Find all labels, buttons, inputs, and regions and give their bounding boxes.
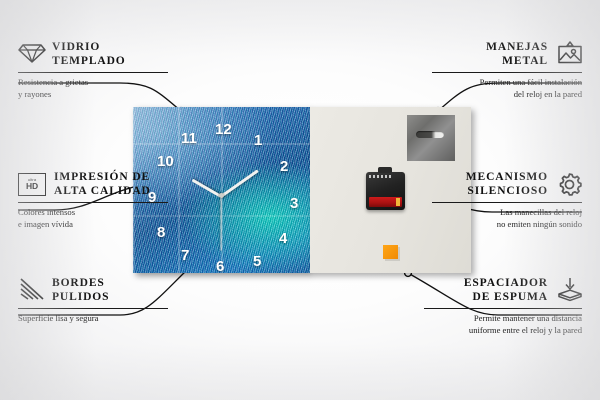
infographic-canvas: 12 1 2 3 4 5 6 7 8 9 10 11 <box>0 0 600 400</box>
callout-title: BORDES PULIDOS <box>52 276 109 304</box>
clock-numeral-4: 4 <box>279 231 287 246</box>
clock-numeral-11: 11 <box>181 131 197 146</box>
hanging-picture-icon <box>556 41 582 67</box>
callout-divider <box>432 202 582 203</box>
clock-numeral-12: 12 <box>215 122 232 137</box>
callout-description: Superficie lisa y segura <box>18 313 168 325</box>
mechanism-label <box>369 175 391 178</box>
foam-spacer <box>383 245 398 259</box>
ultra-hd-icon: ultra HD <box>18 173 46 195</box>
callout-title: ESPACIADOR DE ESPUMA <box>464 276 548 304</box>
callout-divider <box>18 72 168 73</box>
clock-numeral-6: 6 <box>216 259 224 273</box>
callout-title: MECANISMO SILENCIOSO <box>466 170 548 198</box>
clock-numeral-3: 3 <box>290 196 298 211</box>
callout-description: Permiten una fácil instalación del reloj… <box>432 77 582 101</box>
callout-description: Colores intensos e imagen vívida <box>18 207 168 231</box>
clock-center-cap <box>219 193 224 198</box>
stack-down-arrow-icon <box>556 277 582 303</box>
diagonal-lines-icon <box>18 277 44 303</box>
callout-divider <box>18 308 168 309</box>
callout-vidrio-templado[interactable]: VIDRIO TEMPLADO Resistencia a grietas y … <box>18 40 168 101</box>
callout-manejas-metal[interactable]: MANEJAS METAL Permiten una fácil instala… <box>432 40 582 101</box>
callout-espaciador-de-espuma[interactable]: ESPACIADOR DE ESPUMA Permite mantener un… <box>424 276 582 337</box>
clock-numeral-7: 7 <box>181 248 189 263</box>
clock-mechanism-box <box>366 172 405 210</box>
hanger-slot <box>416 131 444 138</box>
callout-divider <box>424 308 582 309</box>
callout-divider <box>432 72 582 73</box>
clock-numeral-1: 1 <box>254 133 262 148</box>
clock-numeral-5: 5 <box>253 254 261 269</box>
metal-hanger <box>407 115 455 161</box>
callout-bordes-pulidos[interactable]: BORDES PULIDOS Superficie lisa y segura <box>18 276 168 325</box>
callout-description: Las manecillas del reloj no emiten ningú… <box>432 207 582 231</box>
callout-title: IMPRESIÓN DE ALTA CALIDAD <box>54 170 151 198</box>
callout-title: MANEJAS METAL <box>486 40 548 68</box>
callout-divider <box>18 202 168 203</box>
battery <box>369 197 402 207</box>
callout-description: Resistencia a grietas y rayones <box>18 77 168 101</box>
callout-title: VIDRIO TEMPLADO <box>52 40 126 68</box>
clock-numeral-10: 10 <box>157 154 174 169</box>
gear-icon <box>556 171 582 197</box>
product-image: 12 1 2 3 4 5 6 7 8 9 10 11 <box>133 107 471 273</box>
callout-mecanismo-silencioso[interactable]: MECANISMO SILENCIOSO Las manecillas del … <box>432 170 582 231</box>
callout-description: Permite mantener una distancia uniforme … <box>424 313 582 337</box>
clock-numeral-2: 2 <box>280 159 288 174</box>
ultra-hd-icon-label: HD <box>26 182 38 191</box>
diamond-icon <box>18 41 44 67</box>
clock-second-hand <box>220 196 221 251</box>
mechanism-tab <box>378 167 392 173</box>
callout-impresion-alta-calidad[interactable]: ultra HD IMPRESIÓN DE ALTA CALIDAD Color… <box>18 170 168 231</box>
